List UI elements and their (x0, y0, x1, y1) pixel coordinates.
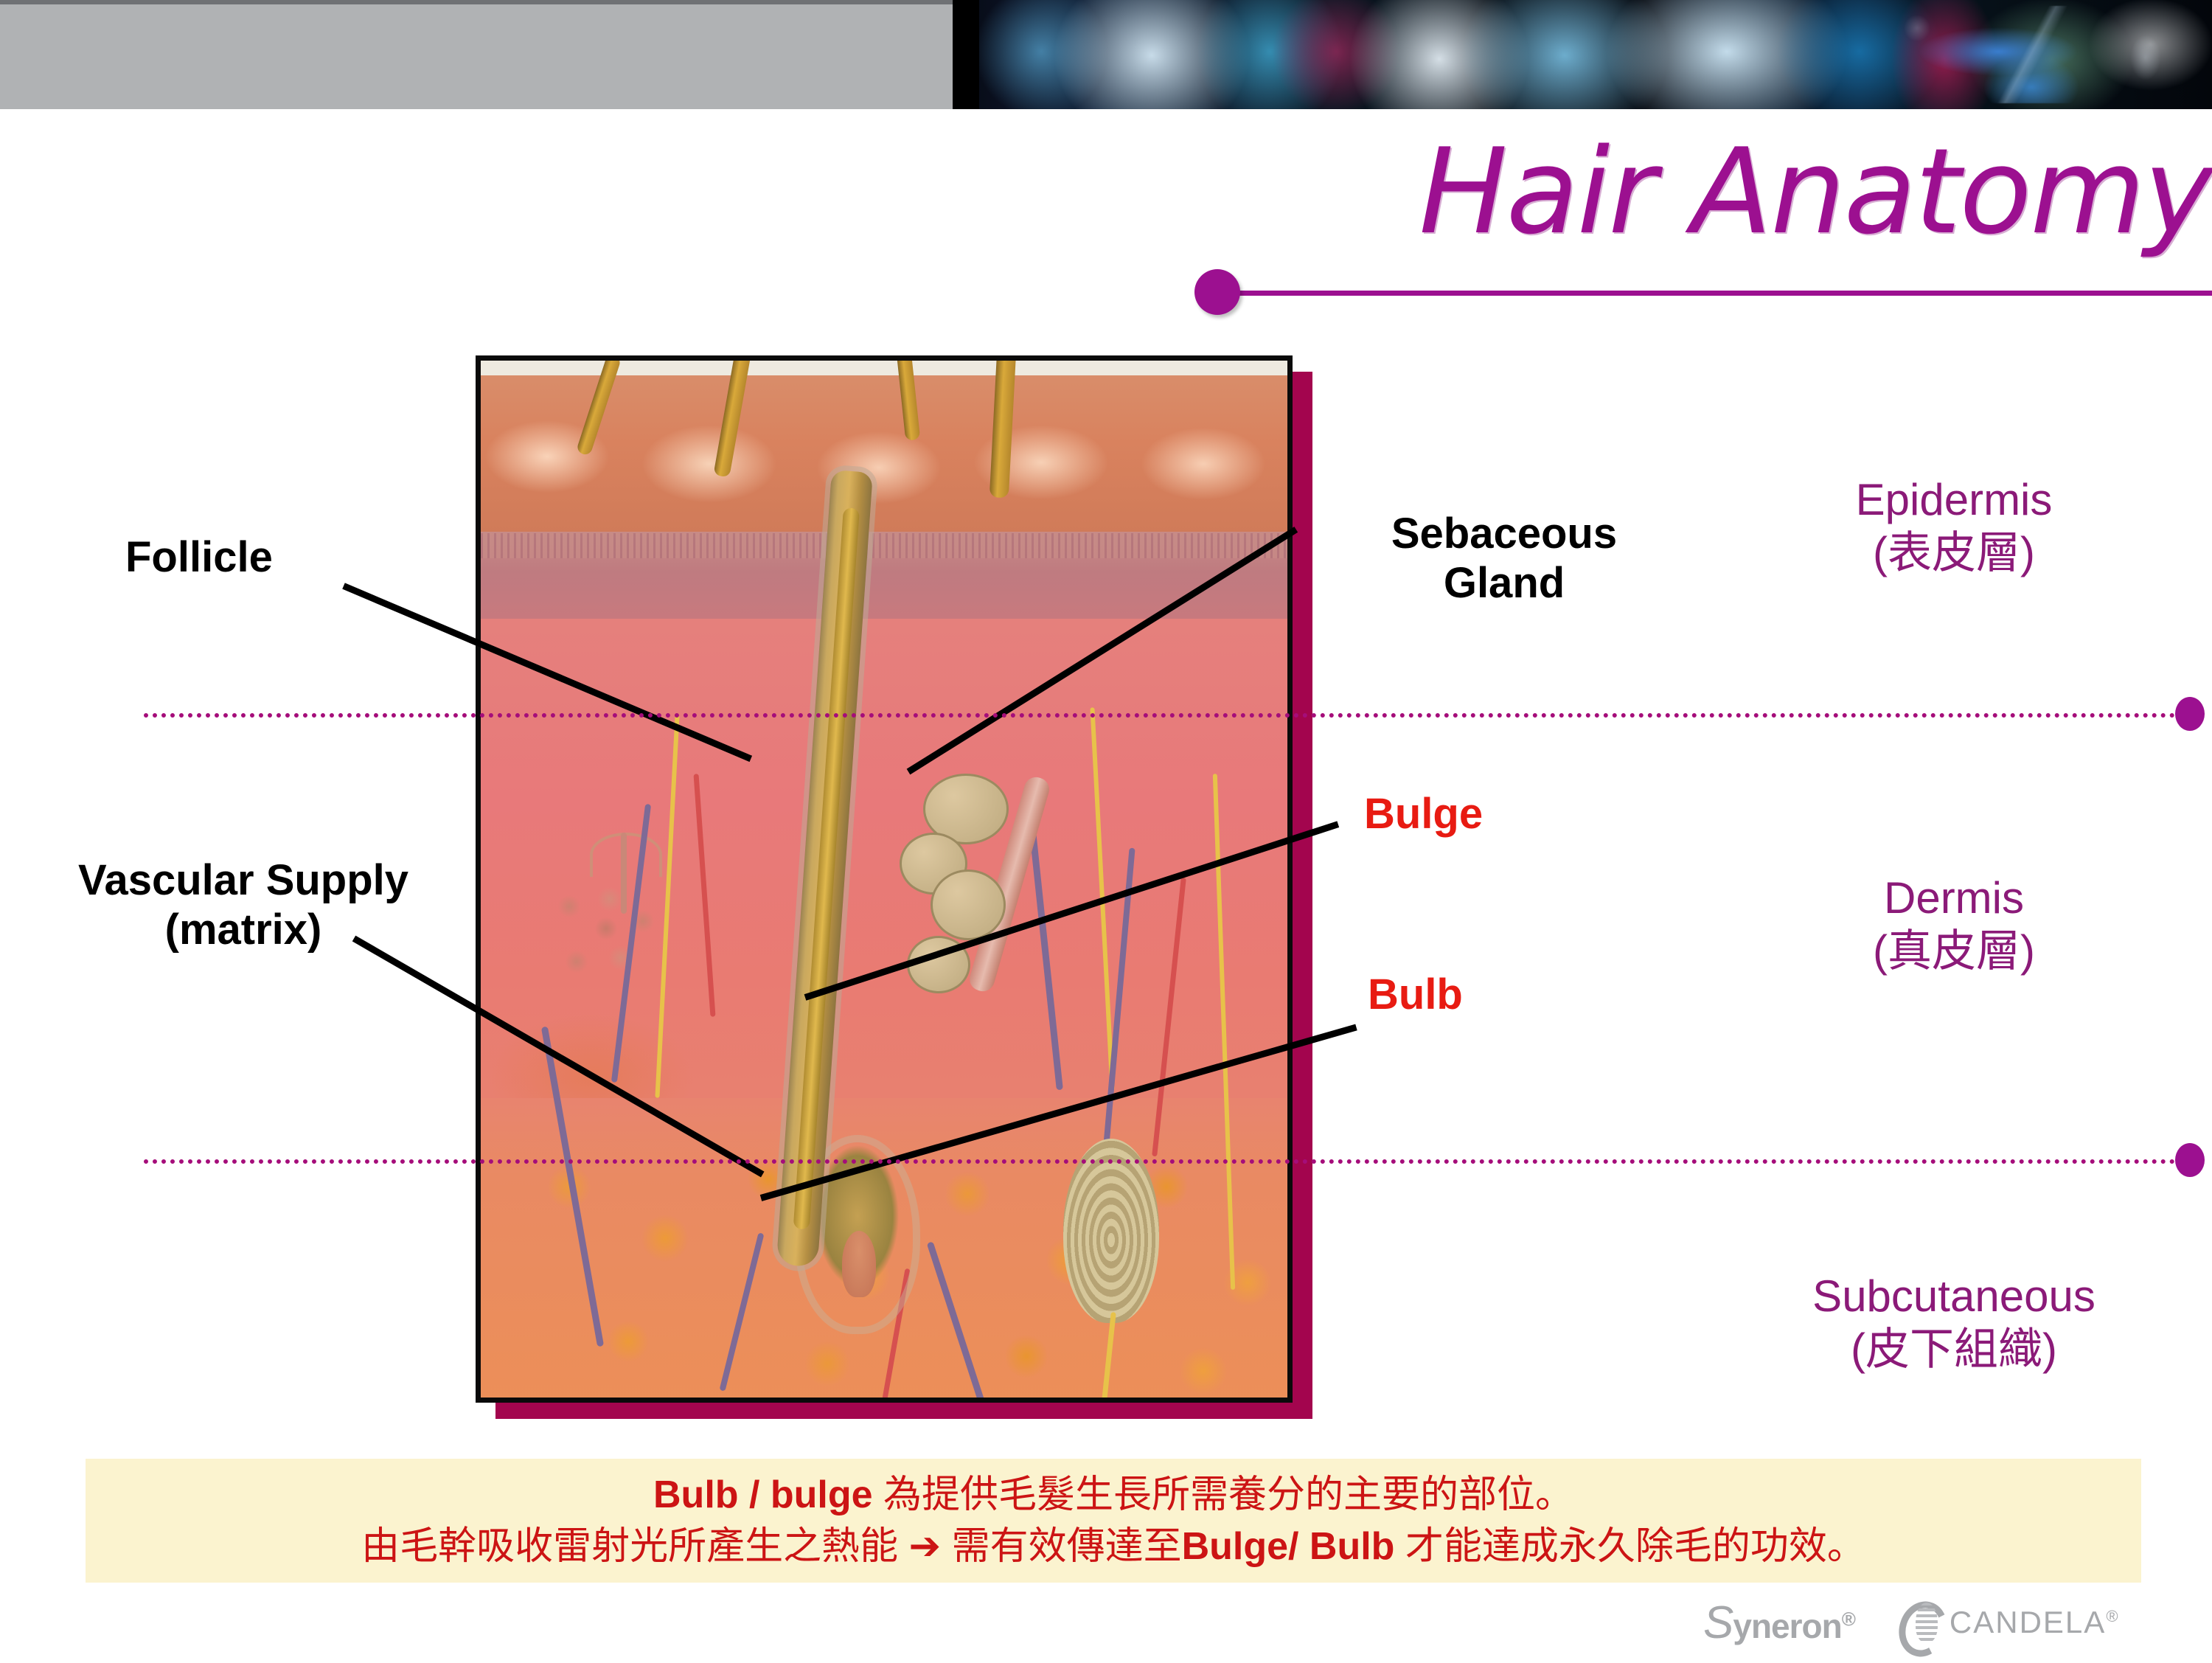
callout-label-sebaceous-line1: Sebaceous (1335, 509, 1674, 558)
callout-label-bulge: Bulge (1364, 789, 1483, 839)
callout-label-sebaceous-gland: Sebaceous Gland (1335, 509, 1674, 608)
layer-label-dermis-en: Dermis (1696, 872, 2212, 925)
divider-endpoint-dot-1 (2175, 697, 2205, 731)
caption-line2-part-c: 才能達成永久除毛的功效。 (1394, 1525, 1865, 1568)
dermis-subcutaneous-divider (144, 1159, 2185, 1164)
callout-label-sebaceous-line2: Gland (1335, 558, 1674, 608)
layer-label-epidermis-en: Epidermis (1696, 473, 2212, 527)
syneron-trademark: ® (1842, 1608, 1855, 1630)
layer-label-epidermis: Epidermis (表皮層) (1696, 473, 2212, 580)
arrow-icon: ➔ (909, 1525, 942, 1568)
caption-line-1: Bulb / bulge 為提供毛髮生長所需養分的主要的部位。 (653, 1469, 1573, 1521)
caption-line2-part-b: 需有效傳達至 (941, 1525, 1181, 1568)
title-underline-rule (1217, 291, 2212, 296)
banner-chalkboard-formula-image (1873, 6, 2212, 103)
sebaceous-gland-lobe-3 (931, 869, 1006, 940)
layer-label-subcutaneous: Subcutaneous (皮下組織) (1696, 1270, 2212, 1376)
caption-line1-rest: 為提供毛髮生長所需養分的主要的部位。 (873, 1473, 1573, 1516)
syneron-logo: Syneron® (1703, 1597, 1855, 1649)
layer-label-subcutaneous-en: Subcutaneous (1696, 1270, 2212, 1323)
candela-logo: CANDELA® (1899, 1598, 2120, 1647)
figure-granular-layer (481, 533, 1287, 558)
title-bullet-dot (1194, 269, 1240, 315)
layer-label-dermis-zh: (真皮層) (1696, 925, 2212, 978)
epidermis-dermis-divider (144, 713, 2185, 718)
callout-label-vascular-supply: Vascular Supply (matrix) (22, 855, 465, 955)
candela-droplet-icon (1899, 1598, 1942, 1647)
sweat-duct (621, 833, 627, 914)
candela-trademark: ® (2106, 1607, 2119, 1625)
caption-box: Bulb / bulge 為提供毛髮生長所需養分的主要的部位。 由毛幹吸收雷射光… (86, 1459, 2141, 1583)
layer-label-dermis: Dermis (真皮層) (1696, 872, 2212, 978)
syneron-logo-text: yneron (1733, 1607, 1841, 1645)
pacinian-corpuscle (1063, 1139, 1159, 1323)
page-title: Hair Anatomy (1209, 133, 2212, 280)
header-banner (0, 0, 2212, 109)
syneron-logo-initial: S (1703, 1597, 1733, 1648)
callout-label-follicle: Follicle (125, 532, 273, 582)
banner-gray-block (0, 4, 953, 109)
candela-logo-text: CANDELA® (1950, 1605, 2120, 1640)
caption-line2-part-a: 由毛幹吸收雷射光所產生之熱能 (361, 1525, 908, 1568)
banner-dark-edge (953, 0, 979, 109)
callout-label-bulb: Bulb (1368, 970, 1463, 1019)
sweat-gland-coil (540, 877, 672, 1002)
candela-wordmark: CANDELA (1950, 1605, 2106, 1639)
divider-endpoint-dot-2 (2175, 1143, 2205, 1177)
caption-line2-bold: Bulge/ Bulb (1182, 1525, 1395, 1568)
footer-logos: Syneron® CANDELA® (1703, 1591, 2175, 1653)
callout-label-vascular-line2: (matrix) (22, 905, 465, 954)
caption-line1-bold: Bulb / bulge (653, 1473, 873, 1516)
layer-label-epidermis-zh: (表皮層) (1696, 527, 2212, 580)
layer-label-subcutaneous-zh: (皮下組織) (1696, 1323, 2212, 1376)
dermal-papilla (842, 1231, 876, 1297)
callout-label-vascular-line1: Vascular Supply (22, 855, 465, 905)
caption-line-2: 由毛幹吸收雷射光所產生之熱能 ➔ 需有效傳達至Bulge/ Bulb 才能達成永… (361, 1521, 1865, 1572)
